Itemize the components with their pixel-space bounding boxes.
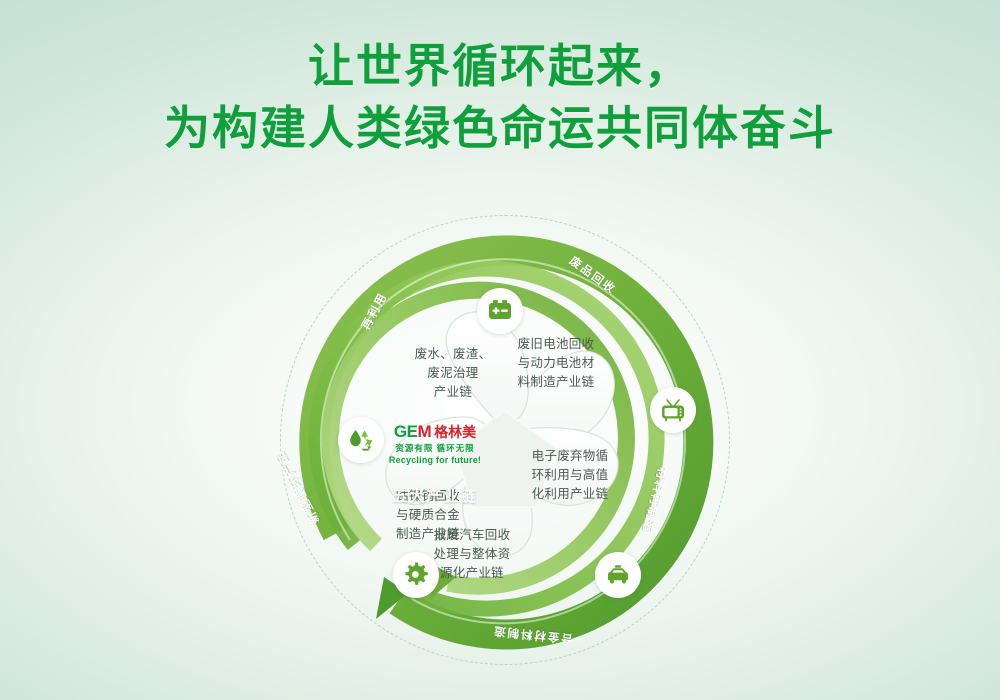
petal-label-e-waste-chain: 电子废弃物循 环利用与高值 化利用产业链 (516, 447, 624, 503)
logo-wordmark-row: GEM 格林美 (365, 423, 505, 440)
petal-label-wastewater-chain: 废水、废渣、 废泥治理 产业链 (398, 345, 508, 401)
tv-icon-bubble (650, 387, 696, 433)
page-title: 让世界循环起来， 为构建人类绿色命运共同体奋斗 (0, 36, 1000, 159)
logo-chinese-name: 格林美 (434, 425, 476, 439)
battery-icon-bubble (477, 288, 523, 334)
battery-icon (487, 298, 513, 324)
gear-icon-bubble (393, 552, 439, 598)
petal-label-battery-chain: 废旧电池回收 与动力电池材 料制造产业链 (502, 335, 610, 391)
title-line-1: 让世界循环起来， (0, 36, 1000, 98)
car-icon-bubble (595, 552, 641, 598)
logo-slogan-en: Recycling for future! (365, 455, 505, 465)
center-chain-label: 五大产业链 (392, 485, 477, 506)
circular-economy-diagram: 废品回收 再利用 材料再制造 合金材料制造 新型循环产品 废旧电池回收 与动力电… (280, 215, 730, 665)
logo-slogan-cn: 资源有限 循环无限 (365, 442, 505, 454)
logo-gem-mark: GEM (394, 423, 431, 440)
car-icon (605, 562, 631, 588)
title-line-2: 为构建人类绿色命运共同体奋斗 (0, 98, 1000, 160)
tv-icon (660, 397, 686, 423)
gem-logo: GEM 格林美 资源有限 循环无限 Recycling for future! (365, 423, 505, 465)
gear-icon (403, 562, 430, 589)
